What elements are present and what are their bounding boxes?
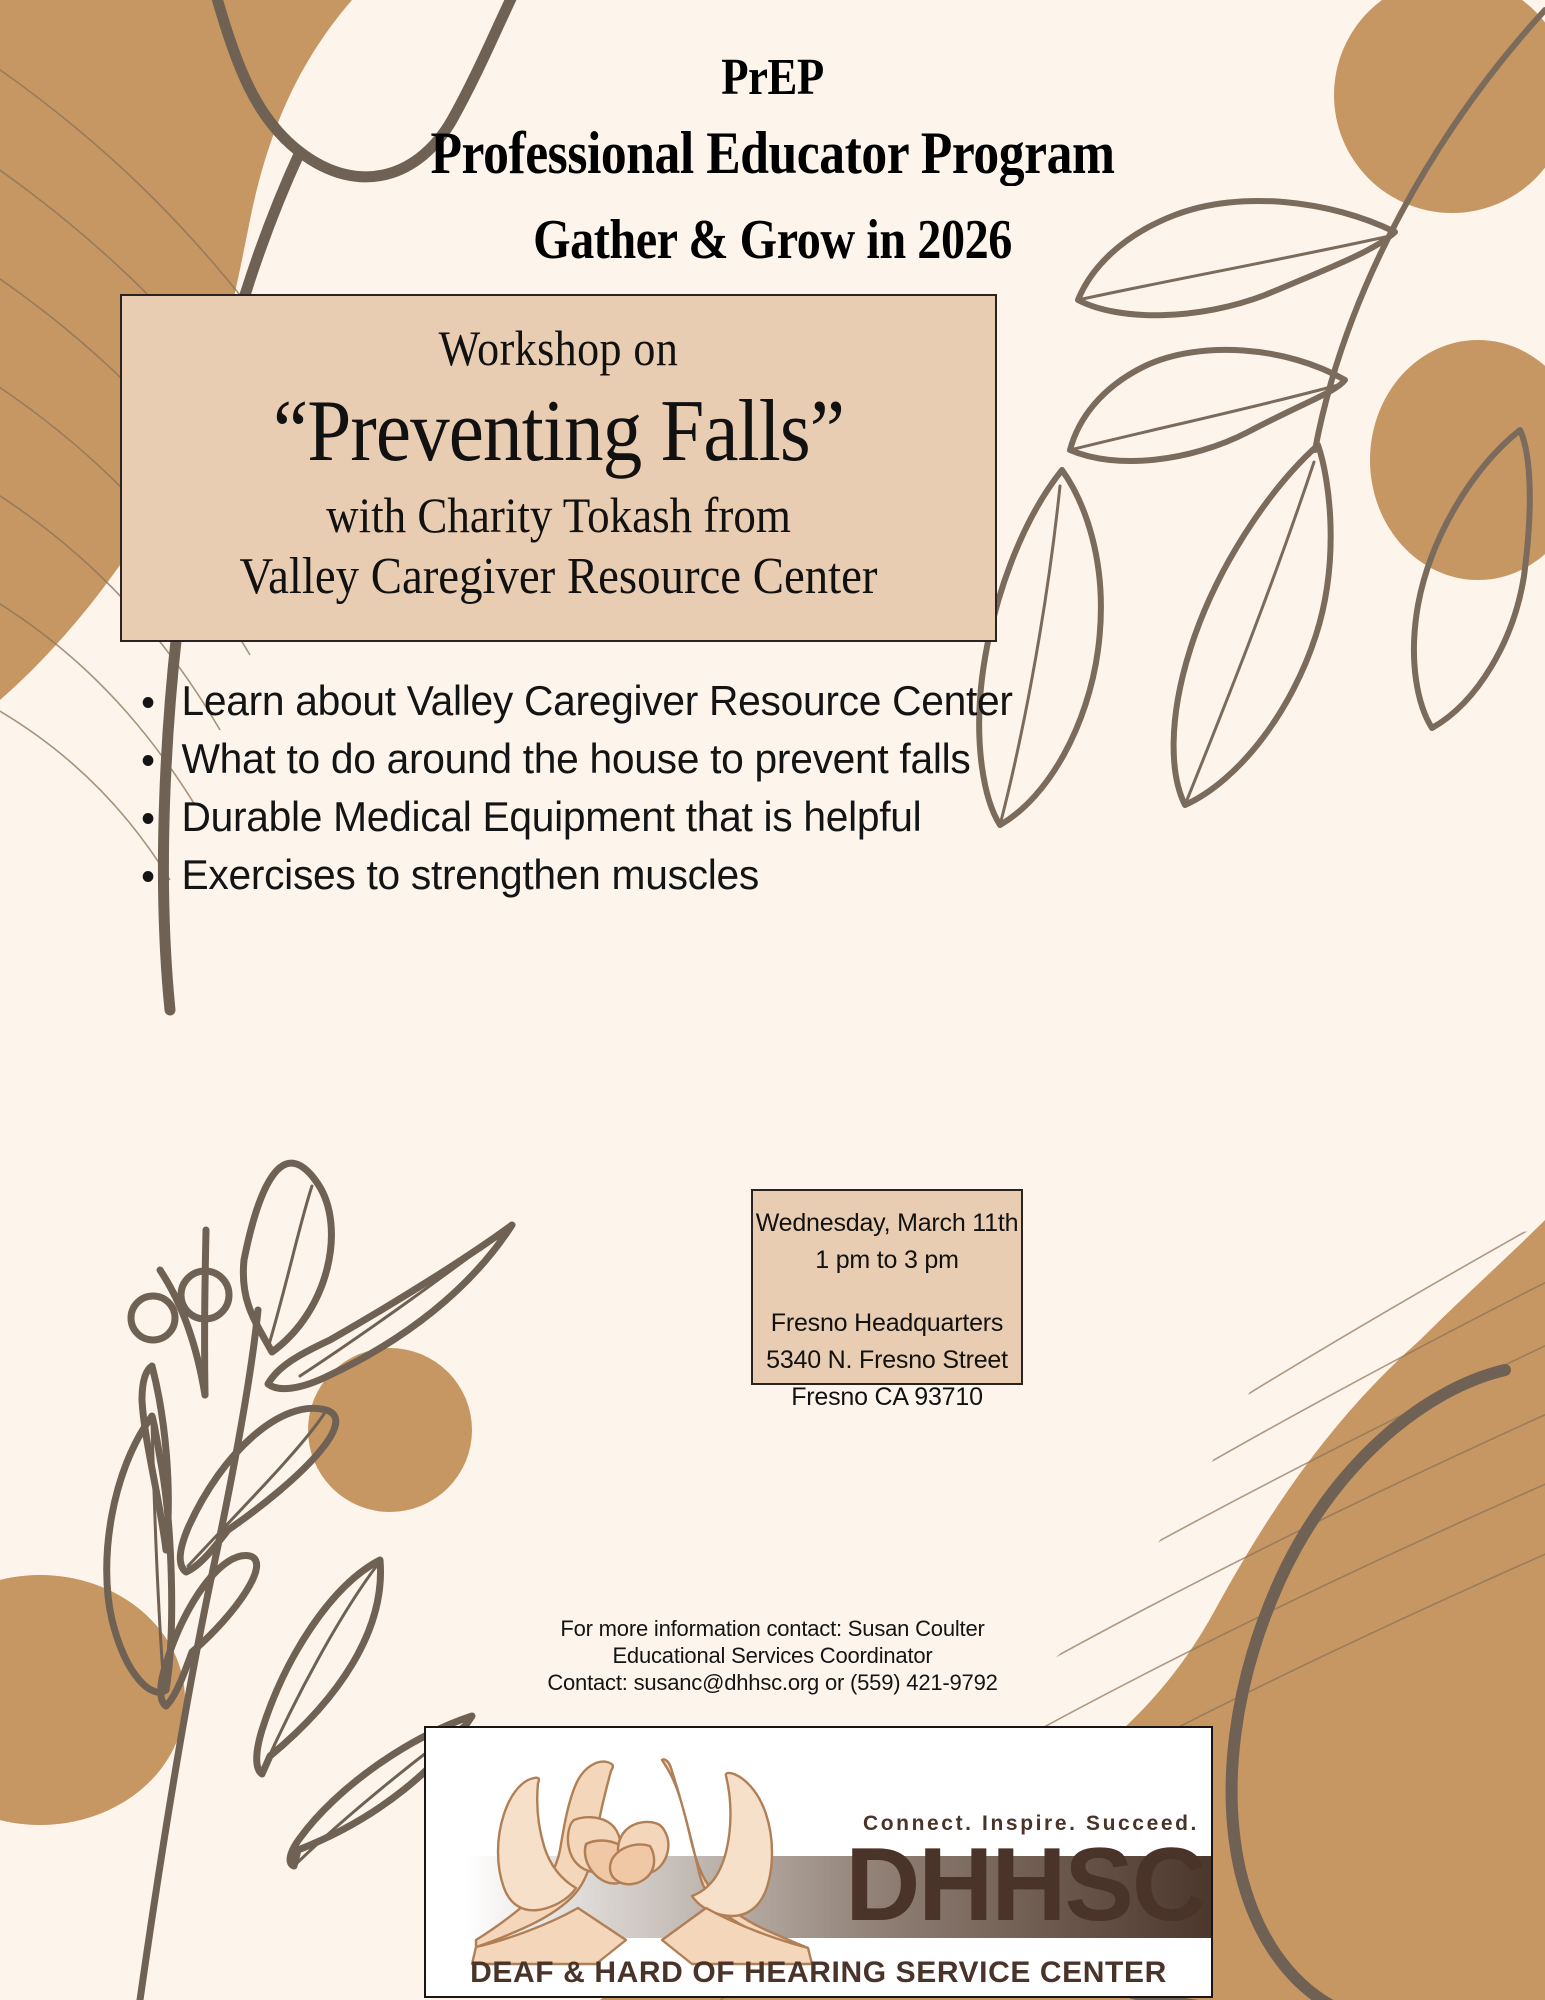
bullet-dot-icon — [143, 813, 154, 824]
details-spacer — [753, 1279, 1021, 1305]
event-details-box: Wednesday, March 11th 1 pm to 3 pm Fresn… — [751, 1189, 1023, 1385]
list-item-label: Durable Medical Equipment that is helpfu… — [182, 793, 922, 840]
list-item: What to do around the house to prevent f… — [133, 730, 1171, 788]
header-line-theme: Gather & Grow in 2026 — [108, 196, 1437, 284]
list-item: Learn about Valley Caregiver Resource Ce… — [133, 672, 1171, 730]
contact-block: For more information contact: Susan Coul… — [0, 1615, 1545, 1696]
workshop-title-box: Workshop on “Preventing Falls” with Char… — [120, 294, 997, 642]
contact-line-email-phone: Contact: susanc@dhhsc.org or (559) 421-9… — [0, 1669, 1545, 1696]
contact-line-title: Educational Services Coordinator — [0, 1642, 1545, 1669]
bullet-dot-icon — [143, 697, 154, 708]
header-line-program: Professional Educator Program — [108, 110, 1437, 196]
event-venue: Fresno Headquarters — [753, 1305, 1021, 1342]
list-item-label: Exercises to strengthen muscles — [182, 851, 759, 898]
contact-line-name: For more information contact: Susan Coul… — [0, 1615, 1545, 1642]
workshop-presenter: with Charity Tokash from — [166, 484, 952, 546]
list-item-label: Learn about Valley Caregiver Resource Ce… — [182, 677, 1013, 724]
dhhsc-logo: Connect. Inspire. Succeed. DHHSC DEAF & … — [424, 1726, 1213, 1998]
event-street: 5340 N. Fresno Street — [753, 1342, 1021, 1379]
workshop-label: Workshop on — [174, 318, 942, 378]
event-city-state-zip: Fresno CA 93710 — [753, 1379, 1021, 1416]
workshop-title: “Preventing Falls” — [166, 380, 952, 484]
topics-list: Learn about Valley Caregiver Resource Ce… — [133, 672, 1203, 904]
list-item-label: What to do around the house to prevent f… — [182, 735, 971, 782]
list-item: Durable Medical Equipment that is helpfu… — [133, 788, 1171, 846]
event-time: 1 pm to 3 pm — [753, 1242, 1021, 1279]
bullet-dot-icon — [143, 755, 154, 766]
header-block: PrEP Professional Educator Program Gathe… — [0, 46, 1545, 284]
flyer-poster: PrEP Professional Educator Program Gathe… — [0, 0, 1545, 2000]
logo-subtitle: DEAF & HARD OF HEARING SERVICE CENTER — [470, 1956, 1167, 1990]
logo-acronym: DHHSC — [845, 1830, 1205, 1940]
header-line-prep: PrEP — [108, 46, 1437, 110]
list-item: Exercises to strengthen muscles — [133, 846, 1171, 904]
bullet-dot-icon — [143, 871, 154, 882]
workshop-organization: Valley Caregiver Resource Center — [166, 546, 952, 608]
event-date: Wednesday, March 11th — [753, 1205, 1021, 1242]
